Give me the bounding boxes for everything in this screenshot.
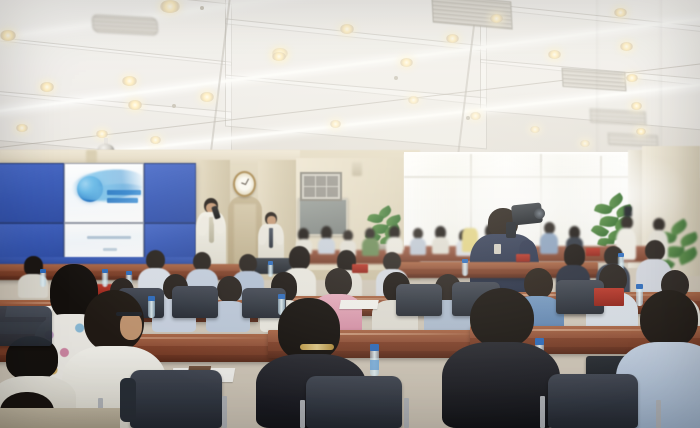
recessed-downlight xyxy=(470,112,481,120)
office-chair-front xyxy=(306,376,402,428)
recessed-downlight xyxy=(160,0,180,13)
recessed-downlight xyxy=(530,126,540,133)
recessed-downlight xyxy=(16,124,28,132)
sprinkler-head xyxy=(200,6,204,10)
office-chair-front xyxy=(0,306,52,346)
audience-person xyxy=(410,228,426,255)
slide-title-line-2 xyxy=(107,198,138,203)
recessed-downlight xyxy=(340,24,354,34)
video-wall-panel xyxy=(144,163,196,223)
audience-person xyxy=(386,226,403,254)
mobile-phone xyxy=(624,206,632,217)
video-wall-slide-bottom xyxy=(64,223,144,259)
sprinkler-head xyxy=(466,116,470,120)
recessed-downlight xyxy=(580,140,590,147)
lanyard xyxy=(494,244,501,254)
recessed-downlight xyxy=(272,52,286,61)
recessed-downlight xyxy=(548,50,561,59)
recessed-downlight xyxy=(0,30,16,41)
wall-speaker xyxy=(86,150,97,163)
gold-necklace xyxy=(300,344,334,350)
video-wall-panel xyxy=(0,163,64,223)
recessed-downlight xyxy=(96,130,108,138)
recessed-downlight xyxy=(330,120,341,128)
red-folder xyxy=(516,254,530,262)
sprinkler-head xyxy=(394,76,398,80)
ceiling-air-diffuser xyxy=(91,14,158,36)
recessed-downlight xyxy=(150,136,161,144)
wall-clock xyxy=(233,171,256,197)
ceiling-soffit xyxy=(596,0,662,168)
sprinkler-head xyxy=(172,104,176,108)
office-chair xyxy=(396,284,442,316)
recessed-downlight xyxy=(200,92,214,102)
floor xyxy=(0,408,120,428)
recessed-downlight xyxy=(408,96,419,104)
office-chair-front xyxy=(548,374,638,428)
office-chair xyxy=(172,286,218,318)
video-wall xyxy=(0,163,196,259)
wall-speaker xyxy=(352,162,362,176)
recessed-downlight xyxy=(40,82,54,92)
recessed-downlight xyxy=(128,100,142,110)
recessed-downlight xyxy=(122,76,137,86)
recessed-downlight xyxy=(400,58,413,67)
office-chair-front xyxy=(130,370,222,428)
camcorder-lens xyxy=(534,208,545,219)
eyeglasses xyxy=(116,312,142,316)
recessed-downlight xyxy=(490,14,503,23)
slide-title-line-1 xyxy=(107,190,141,195)
conference-room-photo xyxy=(0,0,700,428)
slide-footer-line xyxy=(103,248,117,251)
slide-subtitle-line xyxy=(87,236,131,239)
camcorder-mount xyxy=(506,222,516,238)
recessed-downlight xyxy=(446,34,459,43)
video-wall-slide-top xyxy=(64,163,144,223)
video-wall-panel xyxy=(0,223,64,259)
red-folder xyxy=(586,248,600,256)
notice-board xyxy=(300,172,342,201)
audience-person xyxy=(432,226,449,254)
